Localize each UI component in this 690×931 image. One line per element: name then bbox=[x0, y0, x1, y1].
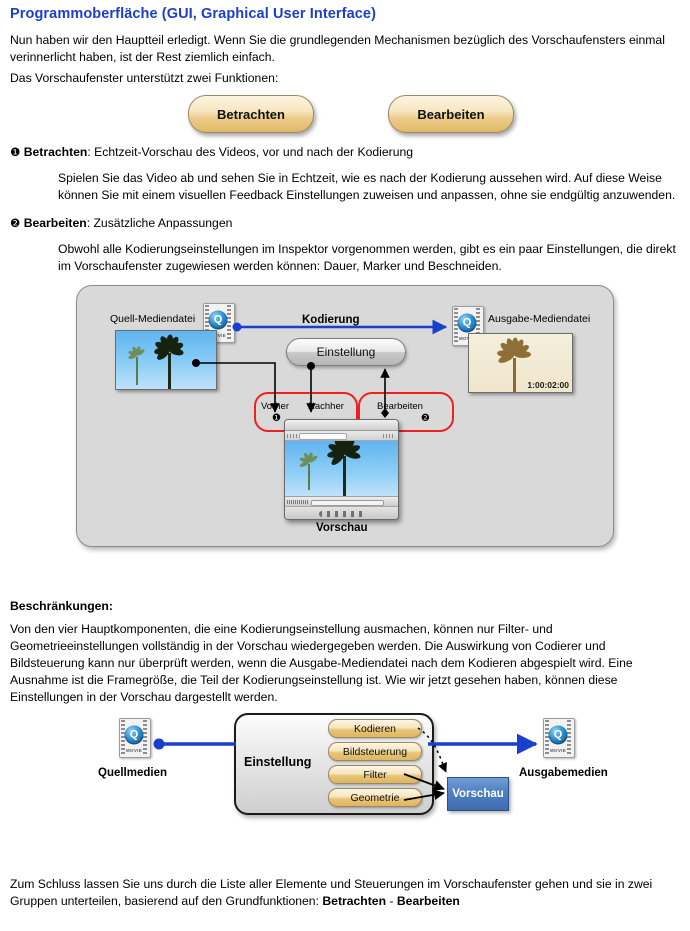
output-video-thumbnail: 1:00:02:00 bbox=[468, 333, 573, 393]
feature-2-body: Obwohl alle Kodierungseinstellungen im I… bbox=[58, 241, 678, 275]
feature-1-marker: ❶ bbox=[10, 145, 20, 159]
output-timecode: 1:00:02:00 bbox=[527, 380, 569, 390]
preview-transport-controls[interactable] bbox=[285, 506, 398, 520]
toolbar-right-controls[interactable] bbox=[383, 434, 395, 438]
edit-group-label: Bearbeiten bbox=[377, 401, 423, 412]
quicktime-q-icon: Q bbox=[549, 725, 568, 744]
palm-trunk bbox=[513, 358, 516, 393]
footer-dash: - bbox=[386, 894, 397, 908]
intro-paragraph-1: Nun haben wir den Hauptteil erledigt. We… bbox=[10, 32, 678, 66]
document-page: Programmoberfläche (GUI, Graphical User … bbox=[0, 0, 690, 931]
footer-paragraph: Zum Schluss lassen Sie uns durch die Lis… bbox=[10, 876, 678, 910]
before-label: Vorher bbox=[261, 401, 289, 412]
preview-window-toolbar[interactable] bbox=[285, 431, 398, 441]
bottom-source-label: Quellmedien bbox=[98, 767, 167, 779]
feature-2-rest: : Zusätzliche Anpassungen bbox=[87, 216, 233, 230]
palm-tree-small bbox=[299, 464, 319, 490]
component-pill-label: Geometrie bbox=[350, 792, 399, 804]
movie-icon-perforation-right bbox=[567, 720, 571, 754]
footer-bold-betrachten: Betrachten bbox=[322, 894, 386, 908]
component-pill-bildsteuerung[interactable]: Bildsteuerung bbox=[328, 742, 422, 761]
palm-trunk bbox=[168, 353, 171, 389]
footer-bold-bearbeiten: Bearbeiten bbox=[397, 894, 460, 908]
before-after-marker: ❶ bbox=[272, 413, 281, 424]
bearbeiten-button-label: Bearbeiten bbox=[417, 107, 484, 122]
bottom-preview-box[interactable]: Vorschau bbox=[447, 777, 509, 811]
after-label: Nachher bbox=[308, 401, 344, 412]
bottom-source-movie-icon: Q MOVIE bbox=[119, 718, 149, 756]
movie-icon-perforation-right bbox=[227, 305, 231, 339]
encoding-label: Kodierung bbox=[302, 314, 360, 326]
toolbar-field[interactable] bbox=[299, 433, 347, 440]
setting-capsule[interactable]: Einstellung bbox=[286, 338, 406, 366]
source-media-label: Quell-Mediendatei bbox=[110, 313, 195, 325]
setting-box-label: Einstellung bbox=[244, 755, 311, 769]
preview-window-titlebar[interactable] bbox=[285, 420, 398, 431]
restrictions-heading: Beschränkungen: bbox=[10, 598, 113, 615]
component-pill-label: Kodieren bbox=[354, 723, 396, 735]
bottom-source-connector bbox=[154, 739, 237, 750]
quicktime-q-icon: Q bbox=[458, 313, 477, 332]
palm-tree-main bbox=[154, 353, 184, 389]
palm-frond bbox=[514, 351, 531, 358]
source-video-thumbnail bbox=[115, 330, 217, 390]
quicktime-q-icon: Q bbox=[125, 725, 144, 744]
palm-trunk bbox=[308, 464, 310, 490]
movie-icon-text: MOVIE bbox=[550, 748, 566, 753]
preview-window[interactable] bbox=[284, 419, 399, 520]
edit-group-marker: ❷ bbox=[421, 413, 430, 424]
preview-scrubber[interactable] bbox=[285, 496, 398, 506]
palm-tree-main bbox=[327, 456, 361, 496]
feature-1-heading: ❶ Betrachten: Echtzeit-Vorschau des Vide… bbox=[10, 144, 678, 161]
scrubber-timecode bbox=[287, 500, 309, 504]
bearbeiten-button[interactable]: Bearbeiten bbox=[388, 95, 514, 133]
component-pill-label: Filter bbox=[363, 769, 386, 781]
palm-trunk bbox=[136, 357, 138, 385]
component-pill-filter[interactable]: Filter bbox=[328, 765, 422, 784]
bottom-output-label: Ausgabemedien bbox=[519, 767, 608, 779]
preview-video-area bbox=[285, 441, 398, 496]
bottom-preview-label: Vorschau bbox=[452, 788, 504, 800]
transport-buttons[interactable] bbox=[319, 511, 365, 517]
scrubber-track[interactable] bbox=[311, 500, 384, 506]
palm-tree-small bbox=[128, 357, 146, 385]
bottom-output-movie-icon: Q MOVIE bbox=[543, 718, 573, 756]
movie-icon-text: MOVIE bbox=[126, 748, 142, 753]
setting-capsule-label: Einstellung bbox=[317, 345, 376, 359]
component-pill-geometrie[interactable]: Geometrie bbox=[328, 788, 422, 807]
feature-1-body: Spielen Sie das Video ab und sehen Sie i… bbox=[58, 170, 678, 204]
page-title: Programmoberfläche (GUI, Graphical User … bbox=[10, 6, 376, 22]
quicktime-q-icon: Q bbox=[209, 310, 228, 329]
preview-caption: Vorschau bbox=[316, 522, 368, 534]
component-pill-label: Bildsteuerung bbox=[343, 746, 407, 758]
feature-2-heading: ❷ Bearbeiten: Zusätzliche Anpassungen bbox=[10, 215, 678, 232]
palm-tree-sepia bbox=[497, 358, 531, 393]
restrictions-body: Von den vier Hauptkomponenten, die eine … bbox=[10, 621, 678, 706]
feature-1-rest: : Echtzeit-Vorschau des Videos, vor und … bbox=[87, 145, 413, 159]
betrachten-button-label: Betrachten bbox=[217, 107, 285, 122]
intro-paragraph-2: Das Vorschaufenster unterstützt zwei Fun… bbox=[10, 70, 678, 87]
movie-icon-perforation-right bbox=[143, 720, 147, 754]
feature-2-lead: Bearbeiten bbox=[24, 216, 87, 230]
betrachten-button[interactable]: Betrachten bbox=[188, 95, 314, 133]
toolbar-left-controls[interactable] bbox=[287, 434, 297, 438]
component-pill-kodieren[interactable]: Kodieren bbox=[328, 719, 422, 738]
output-media-label: Ausgabe-Mediendatei bbox=[488, 313, 590, 325]
feature-2-marker: ❷ bbox=[10, 216, 20, 230]
palm-trunk bbox=[343, 456, 346, 496]
feature-1-lead: Betrachten bbox=[24, 145, 88, 159]
